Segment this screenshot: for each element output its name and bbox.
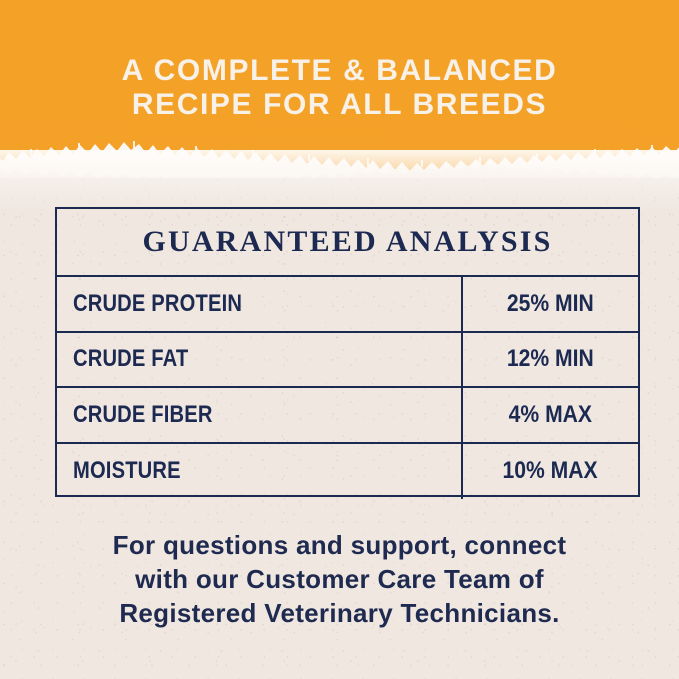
guaranteed-analysis-title: GUARANTEED ANALYSIS: [143, 225, 553, 259]
nutrient-label-text: CRUDE FAT: [73, 345, 188, 373]
page-headline: A COMPLETE & BALANCED RECIPE FOR ALL BRE…: [0, 54, 679, 122]
nutrient-label-text: CRUDE FIBER: [73, 401, 213, 429]
nutrient-label-cell: CRUDE FAT: [57, 333, 463, 387]
product-info-panel: A COMPLETE & BALANCED RECIPE FOR ALL BRE…: [0, 0, 679, 679]
torn-paper-edge: [0, 125, 679, 178]
support-message-line-1: For questions and support, connect: [40, 528, 639, 562]
support-message-line-3: Registered Veterinary Technicians.: [40, 596, 639, 630]
headline-line-2: RECIPE FOR ALL BREEDS: [0, 88, 679, 122]
nutrient-label-cell: MOISTURE: [57, 444, 463, 499]
nutrient-label-text: CRUDE PROTEIN: [73, 290, 242, 318]
guaranteed-analysis-table: GUARANTEED ANALYSIS CRUDE PROTEIN 25% MI…: [55, 207, 640, 497]
nutrient-value-text: 10% MAX: [503, 457, 598, 485]
nutrient-value-cell: 10% MAX: [463, 444, 638, 499]
nutrient-value-text: 12% MIN: [507, 345, 594, 373]
headline-line-1: A COMPLETE & BALANCED: [0, 54, 679, 88]
nutrient-label-text: MOISTURE: [73, 457, 181, 485]
guaranteed-analysis-title-row: GUARANTEED ANALYSIS: [57, 209, 638, 277]
customer-support-message: For questions and support, connect with …: [40, 528, 639, 630]
nutrient-label-cell: CRUDE FIBER: [57, 388, 463, 442]
table-row: CRUDE PROTEIN 25% MIN: [57, 277, 638, 333]
nutrient-value-text: 25% MIN: [507, 290, 594, 318]
nutrient-value-text: 4% MAX: [509, 401, 592, 429]
table-row: CRUDE FIBER 4% MAX: [57, 388, 638, 444]
nutrient-value-cell: 25% MIN: [463, 277, 638, 331]
support-message-line-2: with our Customer Care Team of: [40, 562, 639, 596]
table-row: MOISTURE 10% MAX: [57, 444, 638, 499]
nutrient-value-cell: 12% MIN: [463, 333, 638, 387]
nutrient-label-cell: CRUDE PROTEIN: [57, 277, 463, 331]
nutrient-value-cell: 4% MAX: [463, 388, 638, 442]
table-row: CRUDE FAT 12% MIN: [57, 333, 638, 389]
